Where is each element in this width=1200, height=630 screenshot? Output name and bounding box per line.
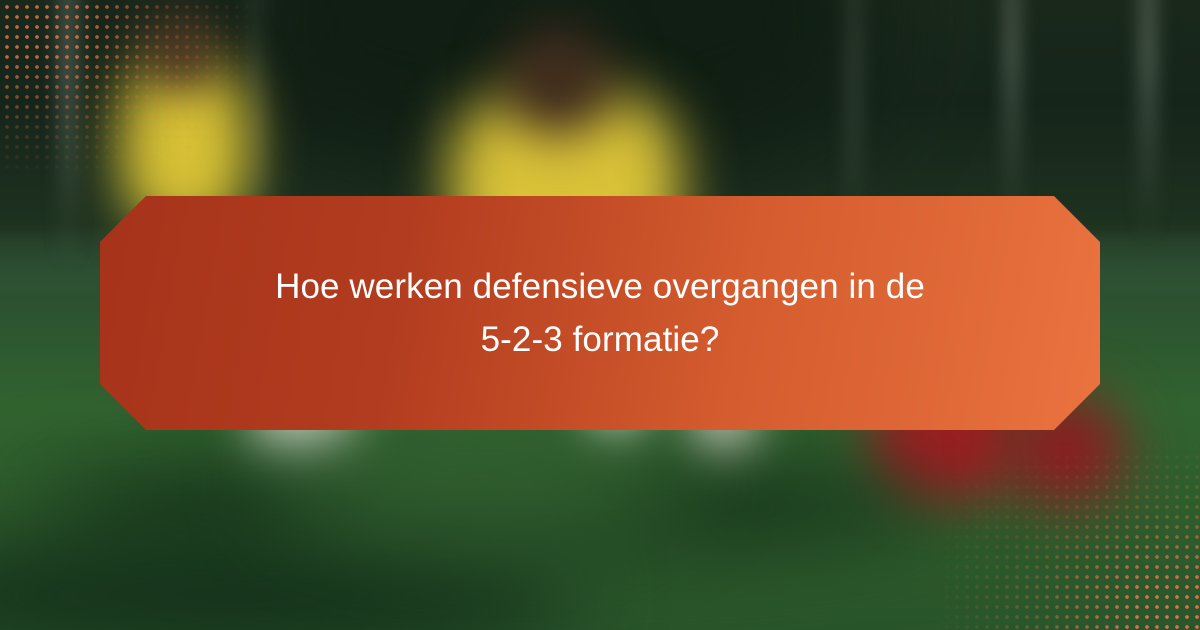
player-center-head	[505, 25, 610, 135]
headline-banner: Hoe werken defensieve overgangen in de 5…	[100, 196, 1100, 430]
social-share-card: Hoe werken defensieve overgangen in de 5…	[0, 0, 1200, 630]
fence-post-icon	[1140, 0, 1156, 240]
halftone-dots-top-left	[0, 0, 260, 180]
grass-highlight	[270, 420, 690, 540]
page-title: Hoe werken defensieve overgangen in de 5…	[190, 260, 1010, 366]
halftone-dots-bottom-right	[930, 440, 1200, 630]
